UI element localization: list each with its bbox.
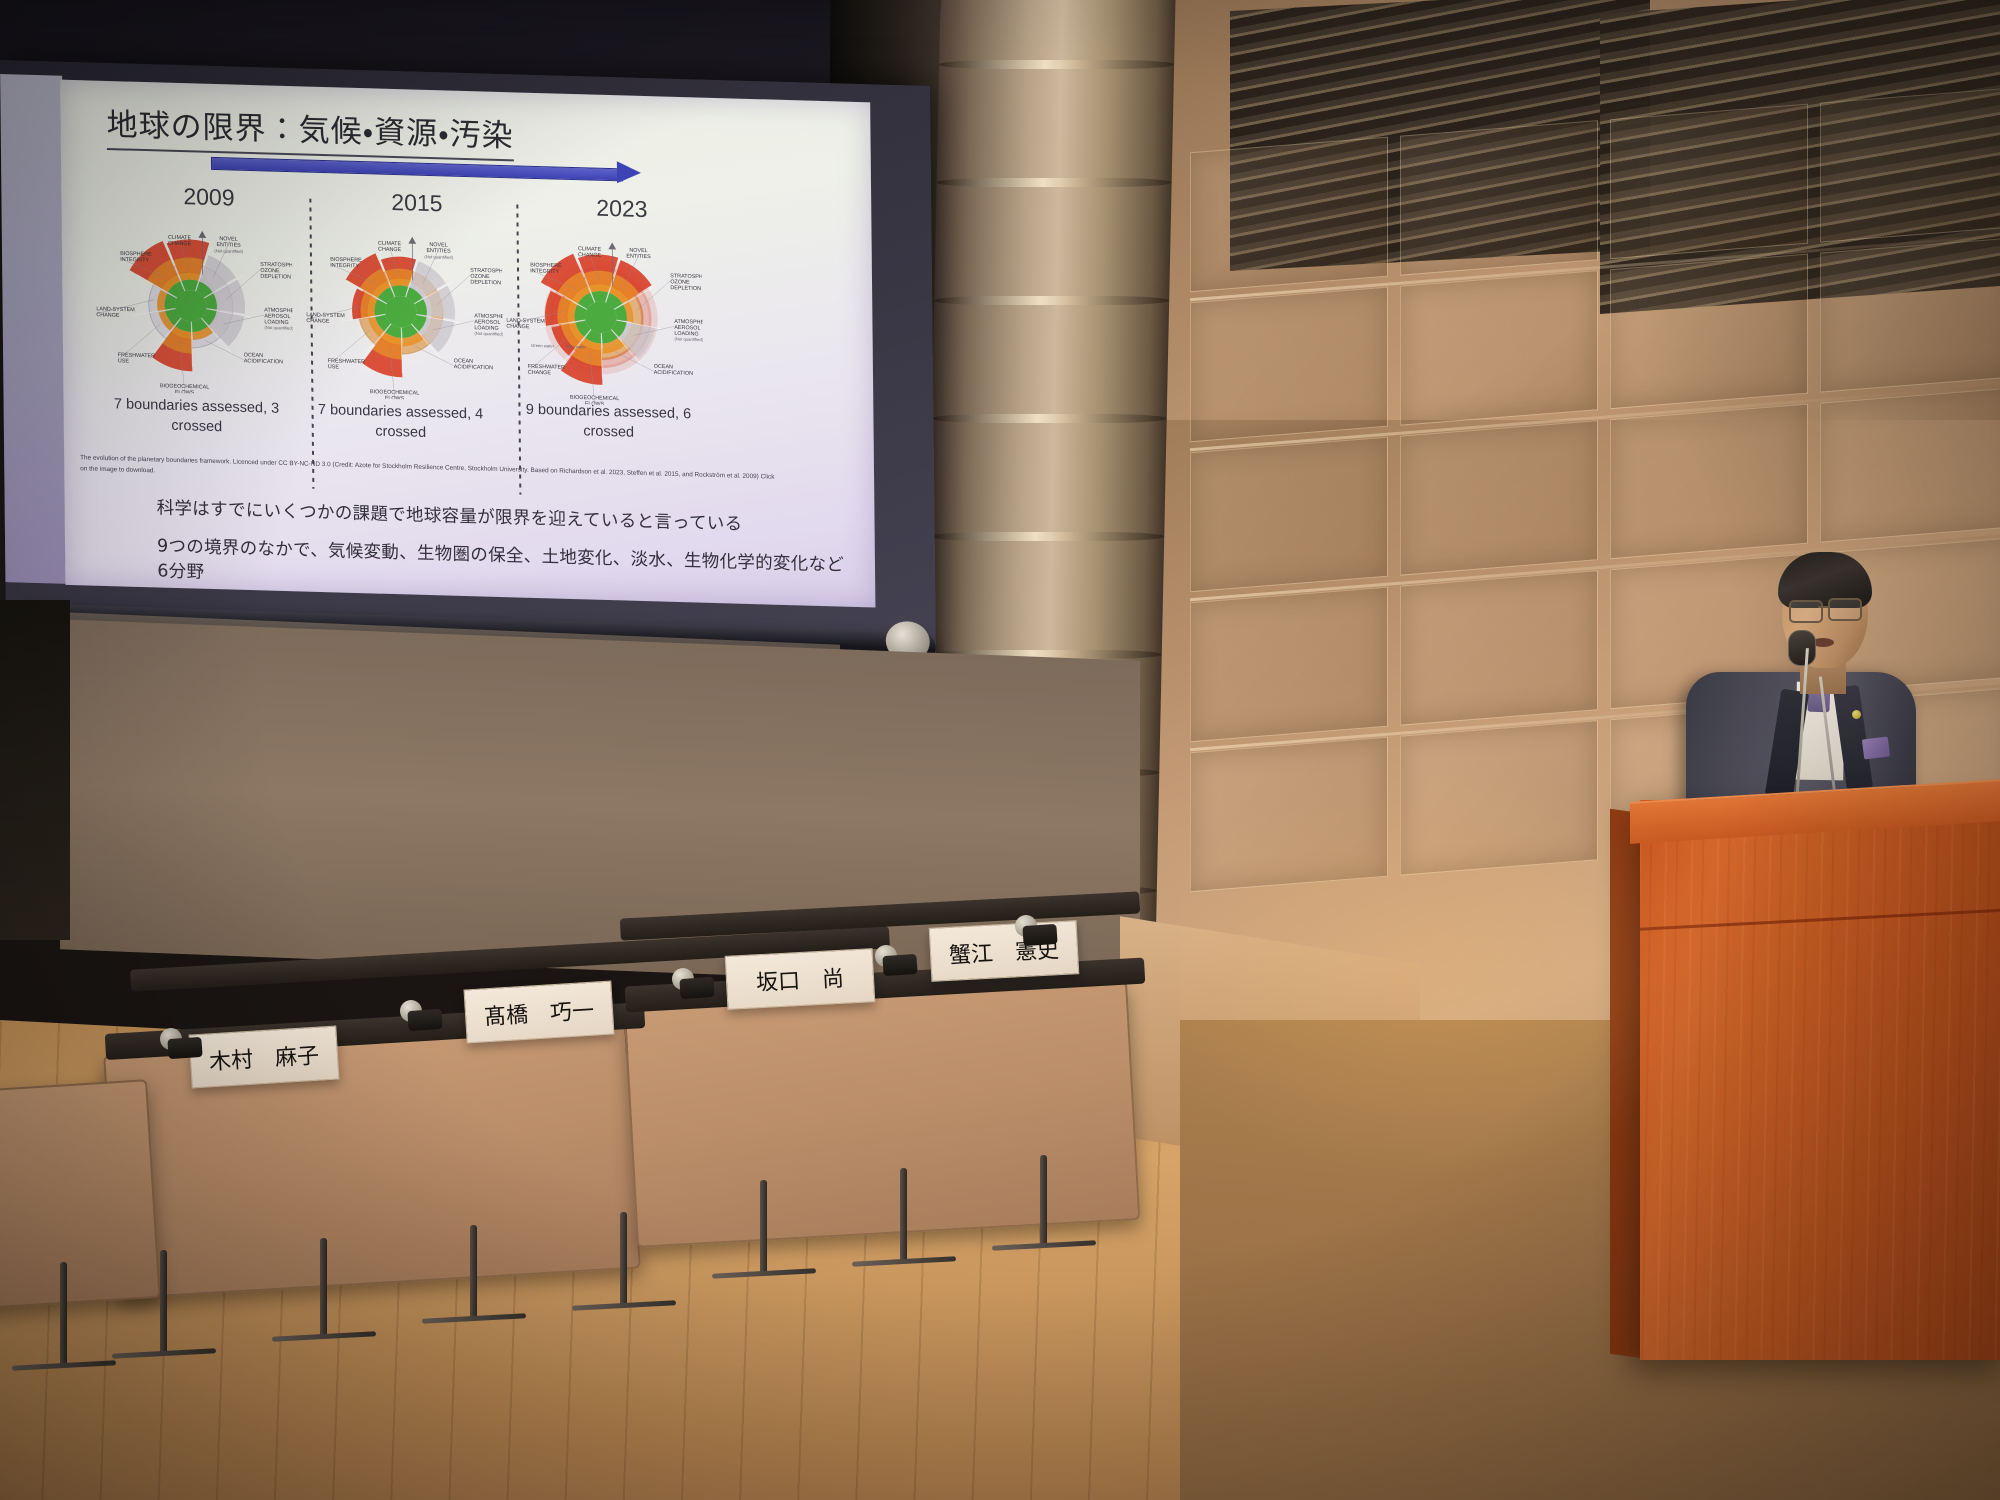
year-label-2009: 2009 xyxy=(183,183,234,211)
year-label-2015: 2015 xyxy=(391,189,442,217)
panel-table xyxy=(103,1025,641,1300)
pocket-square xyxy=(1862,736,1890,759)
svg-text:ATMOSPHERICAEROSOLLOADING: ATMOSPHERICAEROSOLLOADING xyxy=(674,319,703,338)
svg-text:ATMOSPHERICAEROSOLLOADING: ATMOSPHERICAEROSOLLOADING xyxy=(474,313,503,332)
planetary-boundary-wheel-2015: CLIMATECHANGENOVELENTITIESSTRATOSPHERICO… xyxy=(302,221,504,402)
svg-text:STRATOSPHERICOZONEDEPLETION: STRATOSPHERICOZONEDEPLETION xyxy=(470,268,503,287)
svg-text:LAND-SYSTEMCHANGE: LAND-SYSTEMCHANGE xyxy=(96,306,135,319)
slide-body-line-1: 科学はすでにいくつかの課題で地球容量が限界を迎えていると言っている xyxy=(157,496,847,541)
arrow-bar xyxy=(211,157,623,182)
table-leg xyxy=(620,1212,627,1307)
planetary-boundary-wheel-2023: CLIMATECHANGENOVELENTITIESSTRATOSPHERICO… xyxy=(502,227,704,408)
svg-text:CLIMATECHANGE: CLIMATECHANGE xyxy=(578,246,602,259)
svg-text:FRESHWATERUSE: FRESHWATERUSE xyxy=(118,352,155,365)
svg-text:NOVELENTITIES: NOVELENTITIES xyxy=(426,242,451,255)
svg-text:CLIMATECHANGE: CLIMATECHANGE xyxy=(378,241,402,254)
slide-title: 地球の限界：気候・資源・汚染 xyxy=(106,99,514,161)
column-band xyxy=(937,178,1172,187)
wall-panel-cell xyxy=(1820,387,2000,543)
wall-panel-cell xyxy=(1610,254,1808,410)
planetary-boundary-wheel-2009: CLIMATECHANGENOVELENTITIESSTRATOSPHERICO… xyxy=(92,216,294,397)
wall-panel-cell xyxy=(1190,587,1388,743)
wall-panel-cell xyxy=(1820,237,2000,393)
svg-text:BIOSPHEREINTEGRITY: BIOSPHEREINTEGRITY xyxy=(120,251,152,264)
column-band xyxy=(932,414,1167,423)
microphone-base xyxy=(167,1037,202,1059)
svg-text:Blue water: Blue water xyxy=(566,344,586,350)
slide-credit-text: The evolution of the planetary boundarie… xyxy=(80,452,780,494)
svg-text:BIOGEOCHEMICALFLOWS: BIOGEOCHEMICALFLOWS xyxy=(160,383,209,396)
table-leg xyxy=(160,1250,167,1355)
svg-text:FRESHWATERUSE: FRESHWATERUSE xyxy=(328,358,365,371)
presentation-slide: 地球の限界：気候・資源・汚染 2009 2015 2023 CLIMATECHA… xyxy=(60,80,875,608)
svg-text:OCEANACIDIFICATION: OCEANACIDIFICATION xyxy=(244,352,283,365)
microphone-base xyxy=(882,954,917,976)
svg-text:BIOSPHEREINTEGRITY: BIOSPHEREINTEGRITY xyxy=(530,262,562,275)
svg-text:(Not quantified): (Not quantified) xyxy=(424,254,453,260)
glasses-lens-right-icon xyxy=(1828,598,1862,621)
svg-text:LAND-SYSTEMCHANGE: LAND-SYSTEMCHANGE xyxy=(506,318,545,331)
wall-panel-cell xyxy=(1400,270,1598,426)
microphone-base xyxy=(1022,924,1057,946)
screen-left-edge xyxy=(0,74,67,584)
nameplate-2-label: 髙橋 巧一 xyxy=(483,993,595,1032)
caption-2015: 7 boundaries assessed, 4 crossed xyxy=(295,400,505,445)
column-band xyxy=(934,296,1169,305)
wall-panel-cell xyxy=(1190,287,1388,443)
wall-panel-cell xyxy=(1400,120,1598,276)
wall-panel-cell xyxy=(1190,737,1388,893)
table-leg xyxy=(320,1238,327,1338)
svg-text:BIOGEOCHEMICALFLOWS: BIOGEOCHEMICALFLOWS xyxy=(370,389,419,402)
wall-panel-cell xyxy=(1610,104,1808,260)
svg-text:(Not quantified): (Not quantified) xyxy=(474,331,503,337)
svg-text:LAND-SYSTEMCHANGE: LAND-SYSTEMCHANGE xyxy=(306,312,345,325)
wall-panel-cell xyxy=(1400,720,1598,876)
caption-2009: 7 boundaries assessed, 3 crossed xyxy=(91,395,301,440)
nameplate-3-label: 坂口 尚 xyxy=(755,961,845,998)
conference-hall-scene: 地球の限界：気候・資源・汚染 2009 2015 2023 CLIMATECHA… xyxy=(0,0,2000,1500)
column-band xyxy=(939,60,1174,69)
svg-text:OCEANACIDIFICATION: OCEANACIDIFICATION xyxy=(654,364,693,377)
svg-text:(Not quantified): (Not quantified) xyxy=(264,325,293,331)
table-leg xyxy=(900,1168,907,1263)
microphone-base xyxy=(679,977,714,999)
svg-text:STRATOSPHERICOZONEDEPLETION: STRATOSPHERICOZONEDEPLETION xyxy=(670,273,703,292)
glasses-lens-left-icon xyxy=(1789,600,1823,623)
podium-microphone-head xyxy=(1788,630,1816,666)
svg-text:OCEANACIDIFICATION: OCEANACIDIFICATION xyxy=(454,358,493,371)
nameplate-1-label: 木村 麻子 xyxy=(208,1038,320,1077)
wall-panel-cell xyxy=(1190,137,1388,293)
nameplate-3: 坂口 尚 xyxy=(725,948,876,1010)
svg-text:Green water: Green water xyxy=(531,343,555,349)
svg-text:STRATOSPHERICOZONEDEPLETION: STRATOSPHERICOZONEDEPLETION xyxy=(260,262,293,281)
svg-text:ATMOSPHERICAEROSOLLOADING: ATMOSPHERICAEROSOLLOADING xyxy=(264,307,293,326)
table-leg xyxy=(470,1225,477,1320)
panel-table xyxy=(0,1079,161,1310)
svg-text:NOVELENTITIES: NOVELENTITIES xyxy=(216,236,241,249)
svg-text:NOVELENTITIES: NOVELENTITIES xyxy=(626,248,651,261)
table-leg xyxy=(60,1262,67,1367)
svg-text:(Not quantified): (Not quantified) xyxy=(214,248,243,254)
wall-panel-cell xyxy=(1400,570,1598,726)
table-leg xyxy=(1040,1155,1047,1247)
wall-panel-cell xyxy=(1820,87,2000,243)
panel-table xyxy=(624,981,1141,1248)
stage-left-shadow xyxy=(0,600,70,940)
lapel-pin-icon xyxy=(1852,710,1861,719)
svg-text:FRESHWATERCHANGE: FRESHWATERCHANGE xyxy=(528,364,565,377)
svg-text:(Not quantified): (Not quantified) xyxy=(674,336,703,342)
year-label-2023: 2023 xyxy=(596,195,647,223)
caption-2023: 9 boundaries assessed, 6 crossed xyxy=(503,400,713,445)
column-band xyxy=(929,532,1164,541)
svg-text:CLIMATECHANGE: CLIMATECHANGE xyxy=(168,235,192,248)
svg-text:BIOSPHEREINTEGRITY: BIOSPHEREINTEGRITY xyxy=(330,257,362,270)
wall-panel-cell xyxy=(1190,437,1388,593)
wall-panel-cell xyxy=(1400,420,1598,576)
nameplate-2: 髙橋 巧一 xyxy=(463,981,614,1044)
wall-panel-cell xyxy=(1610,404,1808,560)
projection-screen: 地球の限界：気候・資源・汚染 2009 2015 2023 CLIMATECHA… xyxy=(0,60,936,706)
glasses-bridge-icon xyxy=(1818,606,1829,608)
nameplate-1: 木村 麻子 xyxy=(188,1026,339,1089)
microphone-base xyxy=(407,1009,442,1031)
table-leg xyxy=(760,1180,767,1275)
arrow-head-icon xyxy=(617,161,641,184)
podium-wood-grain xyxy=(1640,800,2000,1360)
